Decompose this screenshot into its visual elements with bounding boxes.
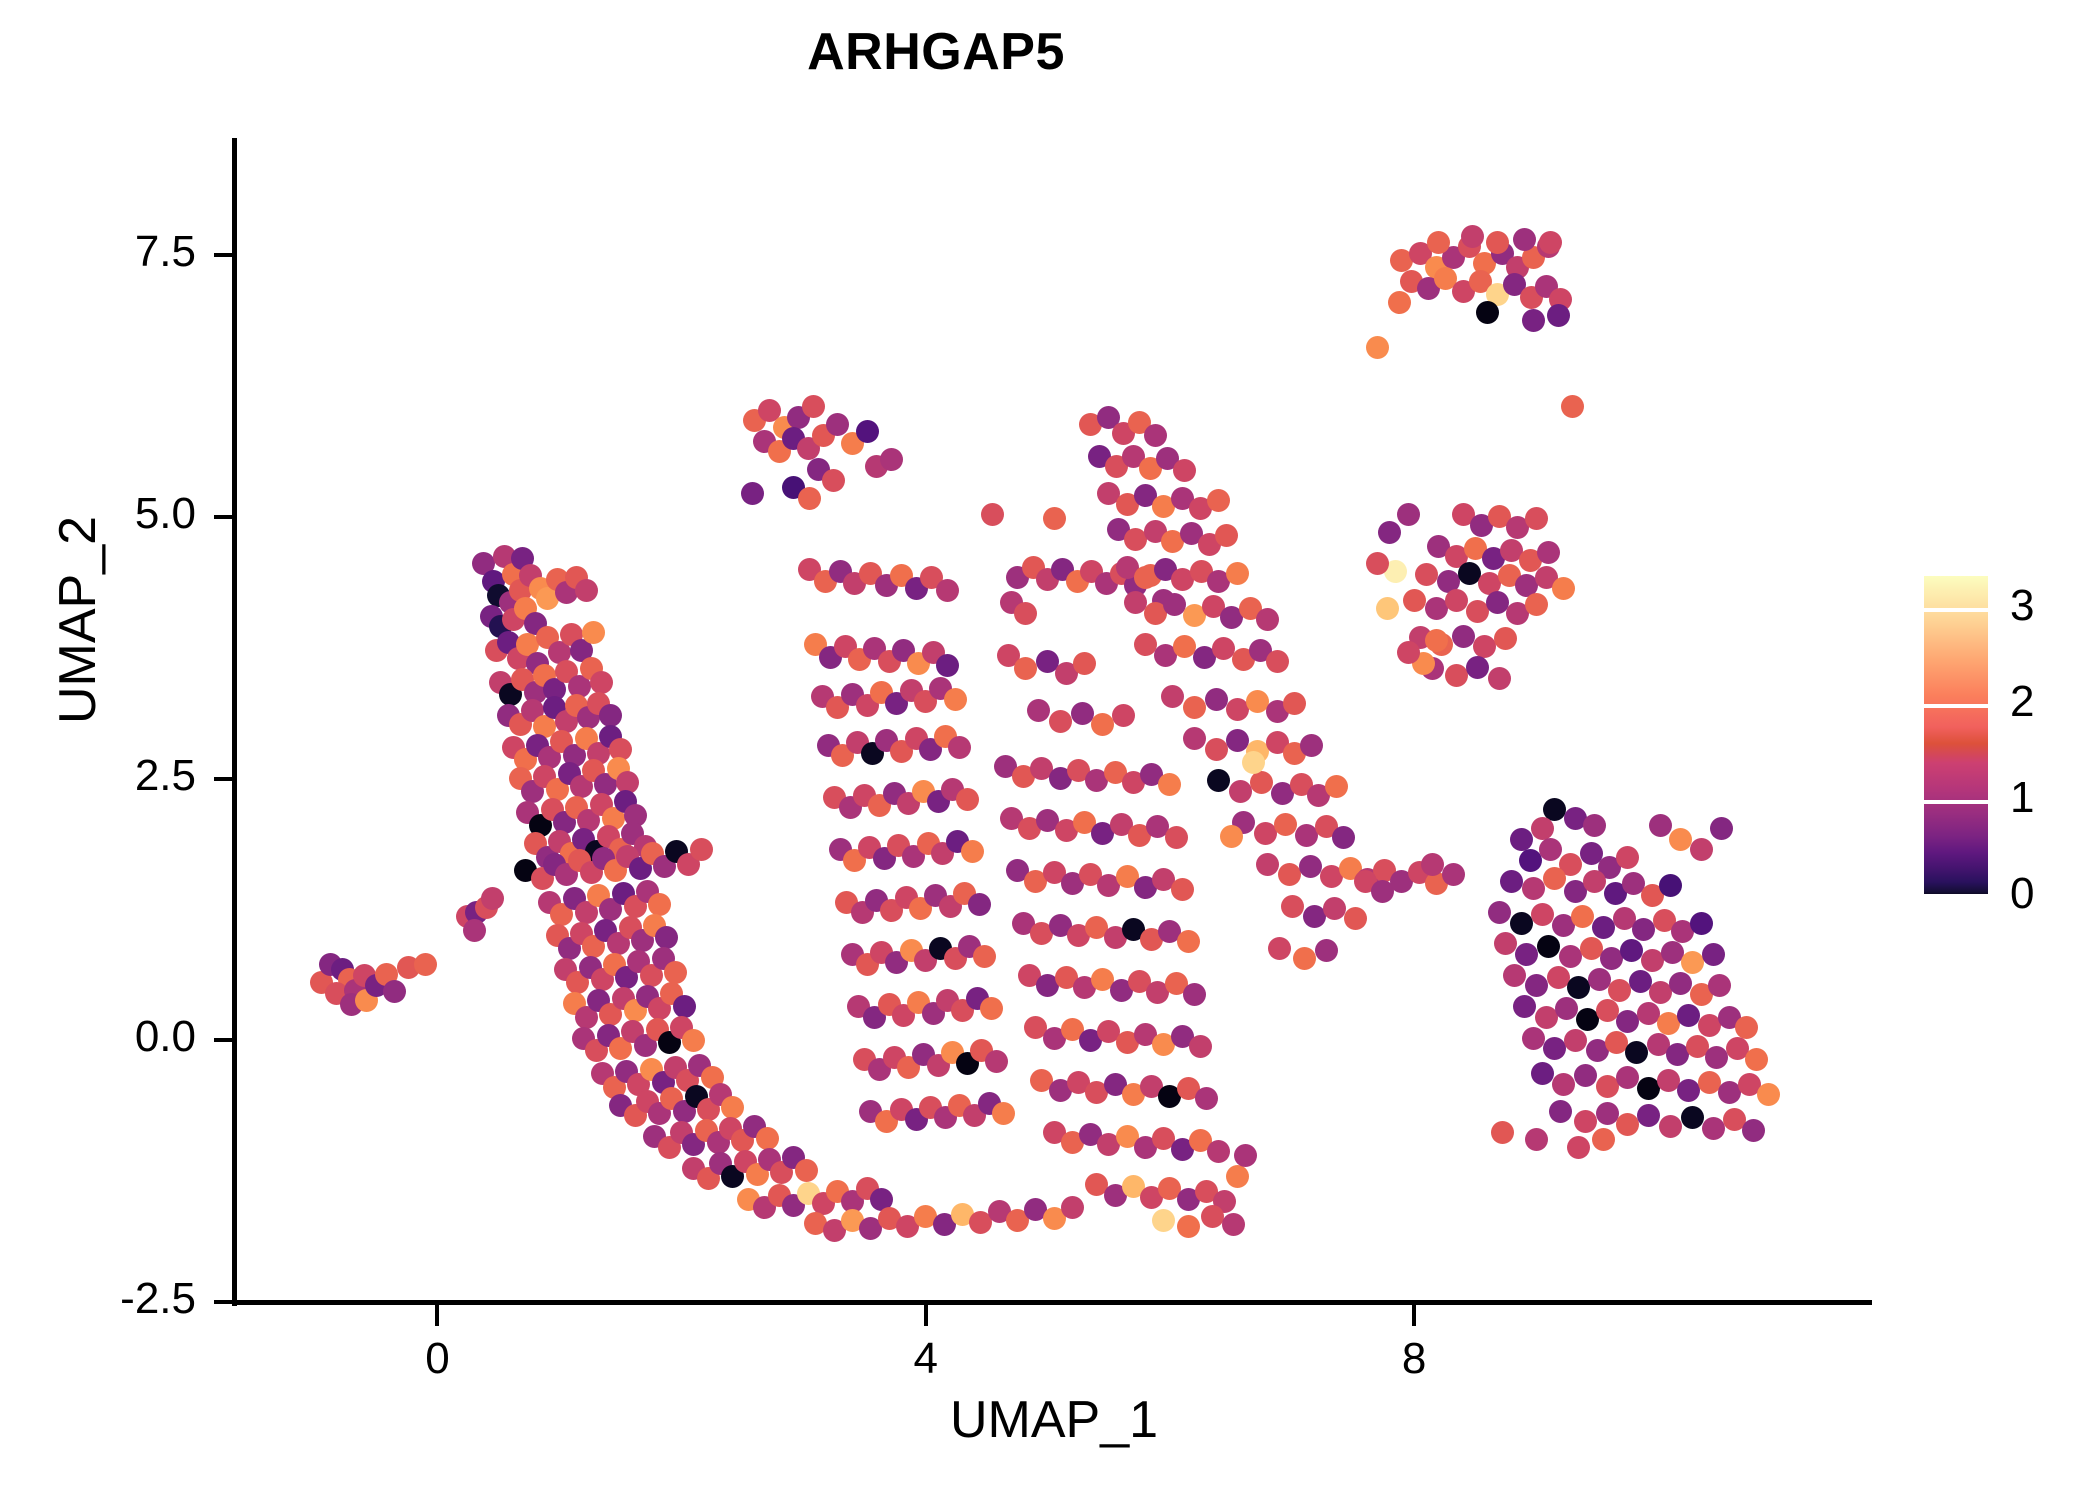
scatter-point <box>1510 828 1533 851</box>
colorbar-tick <box>1924 608 1988 612</box>
scatter-point <box>1537 541 1560 564</box>
scatter-point <box>1535 1006 1558 1029</box>
y-tick-label: -2.5 <box>0 1274 196 1324</box>
scatter-point <box>1376 597 1399 620</box>
scatter-point <box>1494 932 1517 955</box>
colorbar-gradient <box>1924 576 1988 898</box>
scatter-point <box>1690 912 1713 935</box>
scatter-point <box>1491 1121 1514 1144</box>
scatter-point <box>1559 945 1582 968</box>
scatter-point <box>980 997 1003 1020</box>
scatter-point <box>1281 895 1304 918</box>
scatter-point <box>1201 1205 1224 1228</box>
x-axis-title: UMAP_1 <box>236 1390 1872 1450</box>
scatter-point <box>575 579 598 602</box>
scatter-point <box>1234 1144 1257 1167</box>
colorbar-tick <box>1924 894 1988 898</box>
scatter-point <box>682 1029 705 1052</box>
x-tick <box>435 1305 439 1326</box>
scatter-point <box>1458 562 1481 585</box>
scatter-point <box>1027 699 1050 722</box>
scatter-point <box>1525 507 1548 530</box>
scatter-point <box>1397 503 1420 526</box>
y-tick-label: 0.0 <box>0 1012 196 1062</box>
scatter-point <box>822 469 845 492</box>
scatter-point <box>1014 657 1037 680</box>
scatter-point <box>1519 849 1542 872</box>
scatter-point <box>1592 1128 1615 1151</box>
scatter-point <box>1226 1165 1249 1188</box>
scatter-point <box>1742 1119 1765 1142</box>
scatter-point <box>1681 951 1704 974</box>
scatter-point <box>1574 1110 1597 1133</box>
scatter-point <box>1669 972 1692 995</box>
scatter-point <box>1268 937 1291 960</box>
scatter-point <box>1323 897 1346 920</box>
colorbar-tick <box>1924 704 1988 708</box>
scatter-point <box>1616 1113 1639 1136</box>
scatter-point <box>1452 625 1475 648</box>
scatter-point <box>1242 751 1265 774</box>
y-axis-line <box>232 138 237 1306</box>
scatter-point <box>1708 974 1731 997</box>
scatter-point <box>1207 1140 1230 1163</box>
scatter-point <box>1564 1029 1587 1052</box>
scatter-point <box>1173 459 1196 482</box>
scatter-point <box>1574 1064 1597 1087</box>
scatter-point <box>1183 696 1206 719</box>
scatter-point <box>1165 826 1188 849</box>
scatter-point <box>1580 937 1603 960</box>
scatter-point <box>961 840 984 863</box>
scatter-point <box>1625 1041 1648 1064</box>
scatter-point <box>481 887 504 910</box>
scatter-point <box>1571 905 1594 928</box>
scatter-point <box>1229 780 1252 803</box>
scatter-point <box>590 671 613 694</box>
scatter-point <box>1403 589 1426 612</box>
scatter-point <box>802 395 825 418</box>
scatter-point <box>1531 903 1554 926</box>
scatter-point <box>1543 1037 1566 1060</box>
scatter-point <box>1539 838 1562 861</box>
scatter-point <box>582 621 605 644</box>
scatter-point <box>1266 650 1289 673</box>
scatter-point <box>1608 979 1631 1002</box>
umap-feature-plot: ARHGAP5 -2.50.02.55.07.5 048 UMAP_2 UMAP… <box>0 0 2100 1500</box>
scatter-point <box>1226 729 1249 752</box>
scatter-point <box>1705 1046 1728 1069</box>
scatter-point <box>1629 970 1652 993</box>
scatter-point <box>664 961 687 984</box>
scatter-point <box>1344 907 1367 930</box>
scatter-point <box>1710 817 1733 840</box>
scatter-point <box>756 1127 779 1150</box>
scatter-point <box>1207 769 1230 792</box>
scatter-point <box>1274 813 1297 836</box>
colorbar-tick-label: 3 <box>2010 584 2034 628</box>
x-tick <box>1412 1305 1416 1326</box>
scatter-point <box>690 838 713 861</box>
scatter-point <box>1189 1035 1212 1058</box>
scatter-point <box>1718 1081 1741 1104</box>
x-tick-label: 0 <box>337 1334 537 1384</box>
scatter-point <box>1513 228 1536 251</box>
scatter-point <box>1325 775 1348 798</box>
scatter-point <box>1745 1048 1768 1071</box>
scatter-point <box>1488 667 1511 690</box>
scatter-point <box>1567 976 1590 999</box>
scatter-point <box>1256 853 1279 876</box>
scatter-point <box>1547 966 1570 989</box>
scatter-point <box>1537 935 1560 958</box>
scatter-point <box>968 893 991 916</box>
scatter-point <box>1049 710 1072 733</box>
x-tick-label: 4 <box>826 1334 1026 1384</box>
scatter-point <box>1757 1083 1780 1106</box>
scatter-point <box>741 482 764 505</box>
scatter-point <box>1549 1100 1572 1123</box>
scatter-point <box>1332 826 1355 849</box>
scatter-point <box>1415 563 1438 586</box>
scatter-point <box>1183 983 1206 1006</box>
scatter-point <box>1299 855 1322 878</box>
scatter-point <box>1543 867 1566 890</box>
page-title: ARHGAP5 <box>0 22 1872 82</box>
scatter-point <box>1161 685 1184 708</box>
scatter-point <box>1620 939 1643 962</box>
scatter-point <box>1461 225 1484 248</box>
scatter-point <box>1177 1215 1200 1238</box>
scatter-point <box>992 1102 1015 1125</box>
scatter-point <box>1442 863 1465 886</box>
scatter-point <box>1445 589 1468 612</box>
scatter-point <box>1659 1115 1682 1138</box>
scatter-point <box>981 503 1004 526</box>
scatter-point <box>1073 652 1096 675</box>
y-axis-title: UMAP_2 <box>48 370 108 870</box>
y-tick-label: 7.5 <box>0 227 196 277</box>
scatter-point <box>1171 878 1194 901</box>
scatter-point <box>1486 591 1509 614</box>
scatter-point <box>1473 635 1496 658</box>
scatter-point <box>1177 930 1200 953</box>
scatter-point <box>1583 814 1606 837</box>
y-tick <box>214 515 234 519</box>
scatter-point <box>1220 825 1243 848</box>
scatter-point <box>673 995 696 1018</box>
scatter-point <box>655 926 678 949</box>
scatter-point <box>1632 918 1655 941</box>
scatter-point <box>1425 629 1448 652</box>
scatter-point <box>1254 822 1277 845</box>
scatter-point <box>1522 877 1545 900</box>
scatter-point <box>1503 964 1526 987</box>
x-axis-line <box>232 1300 1872 1305</box>
scatter-point <box>1315 939 1338 962</box>
scatter-point <box>1592 916 1615 939</box>
scatter-point <box>1531 817 1554 840</box>
scatter-point <box>1283 692 1306 715</box>
scatter-point <box>1222 1213 1245 1236</box>
scatter-point <box>1510 912 1533 935</box>
scatter-point <box>1207 489 1230 512</box>
scatter-point <box>1649 814 1672 837</box>
scatter-point <box>1205 738 1228 761</box>
scatter-point <box>1567 1136 1590 1159</box>
scatter-point <box>880 448 903 471</box>
colorbar-legend: 0123 <box>1924 576 2094 906</box>
scatter-point <box>1152 1209 1175 1232</box>
scatter-point <box>1466 656 1489 679</box>
scatter-point <box>936 654 959 677</box>
scatter-point <box>936 579 959 602</box>
scatter-point <box>1522 1027 1545 1050</box>
scatter-point <box>1445 664 1468 687</box>
y-tick <box>214 1038 234 1042</box>
scatter-point <box>1525 974 1548 997</box>
scatter-point <box>383 980 406 1003</box>
scatter-point <box>1278 863 1301 886</box>
scatter-point <box>1250 771 1273 794</box>
scatter-point <box>1371 880 1394 903</box>
scatter-point <box>1547 304 1570 327</box>
scatter-point <box>1531 1062 1554 1085</box>
scatter-point <box>1657 1069 1680 1092</box>
scatter-point <box>1596 1075 1619 1098</box>
scatter-point <box>1303 905 1326 928</box>
scatter-point <box>1515 943 1538 966</box>
scatter-point <box>1486 231 1509 254</box>
scatter-point <box>798 487 821 510</box>
scatter-point <box>1552 1073 1575 1096</box>
scatter-point <box>1144 424 1167 447</box>
scatter-point <box>599 704 622 727</box>
scatter-point <box>1071 702 1094 725</box>
scatter-point <box>1215 524 1238 547</box>
scatter-point <box>1659 874 1682 897</box>
scatter-point <box>1677 1079 1700 1102</box>
scatter-point <box>1378 521 1401 544</box>
scatter-point <box>1397 641 1420 664</box>
scatter-point <box>1690 838 1713 861</box>
x-tick <box>924 1305 928 1326</box>
scatter-point <box>648 893 671 916</box>
colorbar-tick <box>1924 800 1988 804</box>
scatter-point <box>1014 602 1037 625</box>
scatter-point <box>795 1159 818 1182</box>
scatter-point <box>463 919 486 942</box>
scatter-point <box>1561 395 1584 418</box>
scatter-point <box>1513 995 1536 1018</box>
scatter-point <box>1616 1010 1639 1033</box>
colorbar-tick-label: 1 <box>2010 776 2034 820</box>
scatter-point <box>1681 1106 1704 1129</box>
scatter-point <box>1205 688 1228 711</box>
scatter-point <box>1500 870 1523 893</box>
scatter-point <box>1112 704 1135 727</box>
scatter-point <box>1061 1196 1084 1219</box>
scatter-point <box>1525 593 1548 616</box>
scatter-point <box>1183 727 1206 750</box>
scatter-point <box>948 736 971 759</box>
scatter-point <box>1366 336 1389 359</box>
scatter-point <box>1702 943 1725 966</box>
scatter-point <box>1425 597 1448 620</box>
scatter-point <box>1641 949 1664 972</box>
scatter-point <box>1657 1012 1680 1035</box>
scatter-point <box>1669 828 1692 851</box>
scatter-point <box>1488 901 1511 924</box>
scatter-point <box>1735 1016 1758 1039</box>
scatter-point <box>1293 947 1316 970</box>
y-tick <box>214 777 234 781</box>
scatter-point <box>1555 997 1578 1020</box>
scatter-point <box>1158 773 1181 796</box>
x-tick-label: 8 <box>1314 1334 1514 1384</box>
y-tick <box>214 253 234 257</box>
y-tick <box>214 1300 234 1304</box>
colorbar-tick-label: 0 <box>2010 872 2034 916</box>
scatter-point <box>944 688 967 711</box>
scatter-point <box>1226 698 1249 721</box>
scatter-point <box>721 1096 744 1119</box>
scatter-point <box>1091 713 1114 736</box>
scatter-point <box>1421 853 1444 876</box>
scatter-point <box>1226 562 1249 585</box>
scatter-point <box>1256 608 1279 631</box>
scatter-point <box>1637 1104 1660 1127</box>
scatter-point <box>1552 577 1575 600</box>
scatter-point <box>1596 999 1619 1022</box>
scatter-point <box>1677 1004 1700 1027</box>
scatter-point <box>1476 301 1499 324</box>
plot-panel <box>236 140 1872 1302</box>
scatter-point <box>1043 507 1066 530</box>
scatter-point <box>1616 846 1639 869</box>
scatter-point <box>1522 309 1545 332</box>
scatter-point <box>1427 231 1450 254</box>
scatter-point <box>1596 1102 1619 1125</box>
scatter-point <box>414 953 437 976</box>
scatter-point <box>1702 1117 1725 1140</box>
scatter-point <box>956 788 979 811</box>
scatter-point <box>973 945 996 968</box>
scatter-point <box>1494 627 1517 650</box>
scatter-point <box>985 1050 1008 1073</box>
scatter-point <box>1195 1087 1218 1110</box>
scatter-point <box>856 420 879 443</box>
scatter-point <box>1616 1066 1639 1089</box>
scatter-point <box>1525 1128 1548 1151</box>
scatter-point <box>1388 291 1411 314</box>
scatter-point <box>1583 870 1606 893</box>
scatter-point <box>1300 734 1323 757</box>
colorbar-tick-label: 2 <box>2010 680 2034 724</box>
